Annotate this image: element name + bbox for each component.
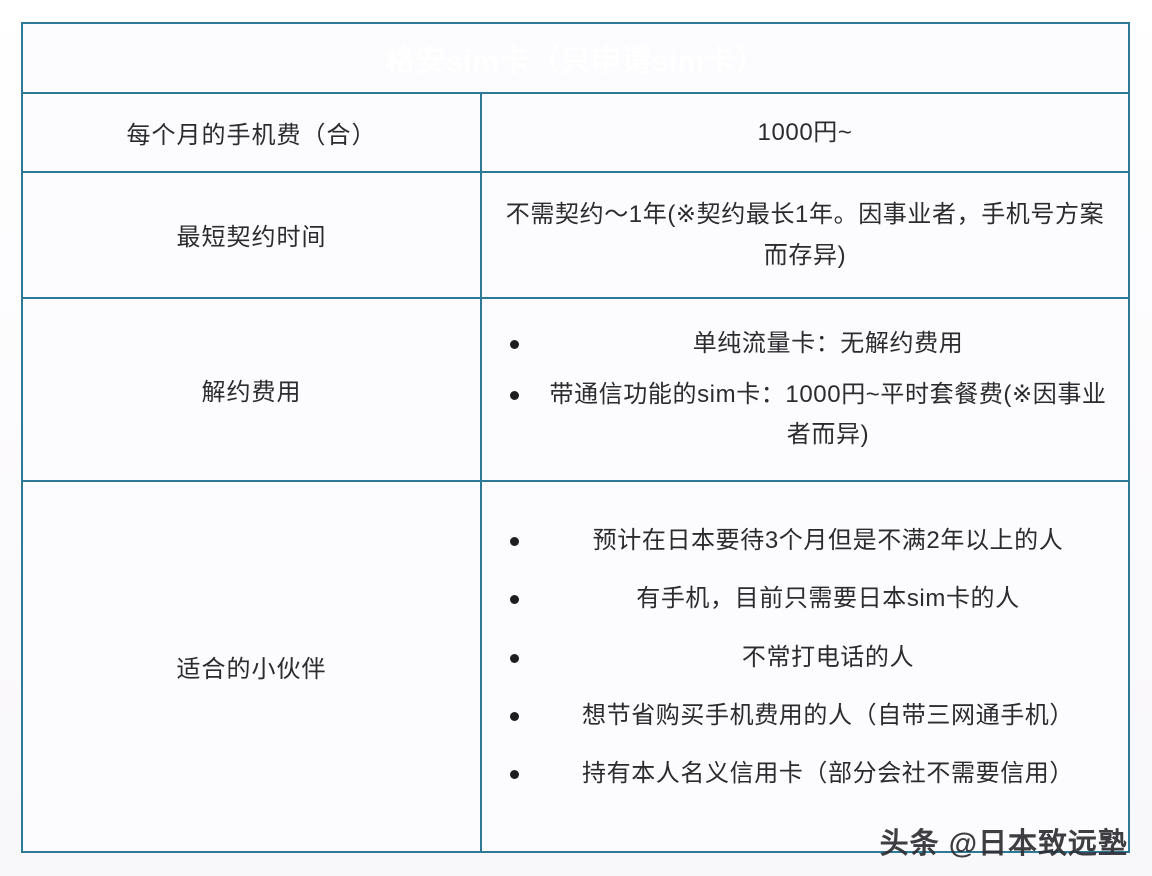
list-item-text: 不常打电话的人	[742, 644, 914, 671]
suitable-users-list: 预计在日本要待3个月但是不满2年以上的人 有手机，目前只需要日本sim卡的人 不…	[500, 521, 1110, 795]
table-row: 最短契约时间 不需契约～1年(※契约最长1年。因事业者，手机号方案而存异)	[22, 172, 1129, 299]
list-item: 单纯流量卡：无解约费用	[500, 324, 1110, 364]
bullet-dot-icon	[510, 712, 519, 721]
row-value-cancellation-fee: 单纯流量卡：无解约费用 带通信功能的sim卡：1000円~平时套餐费(※因事业者…	[481, 298, 1129, 481]
spec-table-container: 格安sim卡（只申请sim卡） 每个月的手机费（合） 1000円~ 最短契约时间…	[21, 22, 1128, 853]
row-value-minimum-contract: 不需契约～1年(※契约最长1年。因事业者，手机号方案而存异)	[481, 172, 1129, 299]
minimum-contract-value: 不需契约～1年(※契约最长1年。因事业者，手机号方案而存异)	[500, 194, 1110, 277]
list-item-text: 单纯流量卡：无解约费用	[693, 330, 964, 357]
page-canvas: 格安sim卡（只申请sim卡） 每个月的手机费（合） 1000円~ 最短契约时间…	[0, 0, 1152, 876]
list-item: 持有本人名义信用卡（部分会社不需要信用）	[500, 754, 1110, 794]
cancellation-fee-list: 单纯流量卡：无解约费用 带通信功能的sim卡：1000円~平时套餐费(※因事业者…	[500, 324, 1110, 455]
bullet-dot-icon	[510, 391, 519, 400]
list-item-text: 有手机，目前只需要日本sim卡的人	[636, 585, 1020, 612]
row-label-minimum-contract: 最短契约时间	[22, 172, 481, 299]
plan-comparison-table: 格安sim卡（只申请sim卡） 每个月的手机费（合） 1000円~ 最短契约时间…	[21, 22, 1130, 853]
row-label-cancellation-fee: 解约费用	[22, 298, 481, 481]
list-item: 不常打电话的人	[500, 638, 1110, 678]
table-row: 解约费用 单纯流量卡：无解约费用 带通信功能的sim卡：1000円~平时套餐费(…	[22, 298, 1129, 481]
row-label-monthly-fee: 每个月的手机费（合）	[22, 93, 481, 172]
table-row: 适合的小伙伴 预计在日本要待3个月但是不满2年以上的人 有手机，目前只需要日本s…	[22, 481, 1129, 852]
bullet-dot-icon	[510, 537, 519, 546]
monthly-fee-value: 1000円~	[500, 112, 1110, 153]
table-head: 格安sim卡（只申请sim卡）	[22, 23, 1129, 93]
row-value-suitable-users: 预计在日本要待3个月但是不满2年以上的人 有手机，目前只需要日本sim卡的人 不…	[481, 481, 1129, 852]
table-row: 每个月的手机费（合） 1000円~	[22, 93, 1129, 172]
list-item-text: 带通信功能的sim卡：1000円~平时套餐费(※因事业者而异)	[549, 381, 1106, 448]
list-item: 想节省购买手机费用的人（自带三网通手机）	[500, 696, 1110, 736]
bullet-dot-icon	[510, 770, 519, 779]
table-header-row: 格安sim卡（只申请sim卡）	[22, 23, 1129, 93]
list-item: 有手机，目前只需要日本sim卡的人	[500, 579, 1110, 619]
table-title: 格安sim卡（只申请sim卡）	[22, 23, 1129, 93]
list-item-text: 预计在日本要待3个月但是不满2年以上的人	[593, 527, 1064, 554]
bullet-dot-icon	[510, 654, 519, 663]
bullet-dot-icon	[510, 595, 519, 604]
row-value-monthly-fee: 1000円~	[481, 93, 1129, 172]
list-item-text: 想节省购买手机费用的人（自带三网通手机）	[582, 702, 1074, 729]
list-item: 带通信功能的sim卡：1000円~平时套餐费(※因事业者而异)	[500, 375, 1110, 456]
table-body: 每个月的手机费（合） 1000円~ 最短契约时间 不需契约～1年(※契约最长1年…	[22, 93, 1129, 852]
row-label-suitable-users: 适合的小伙伴	[22, 481, 481, 852]
list-item: 预计在日本要待3个月但是不满2年以上的人	[500, 521, 1110, 561]
bullet-dot-icon	[510, 340, 519, 349]
list-item-text: 持有本人名义信用卡（部分会社不需要信用）	[582, 760, 1074, 787]
